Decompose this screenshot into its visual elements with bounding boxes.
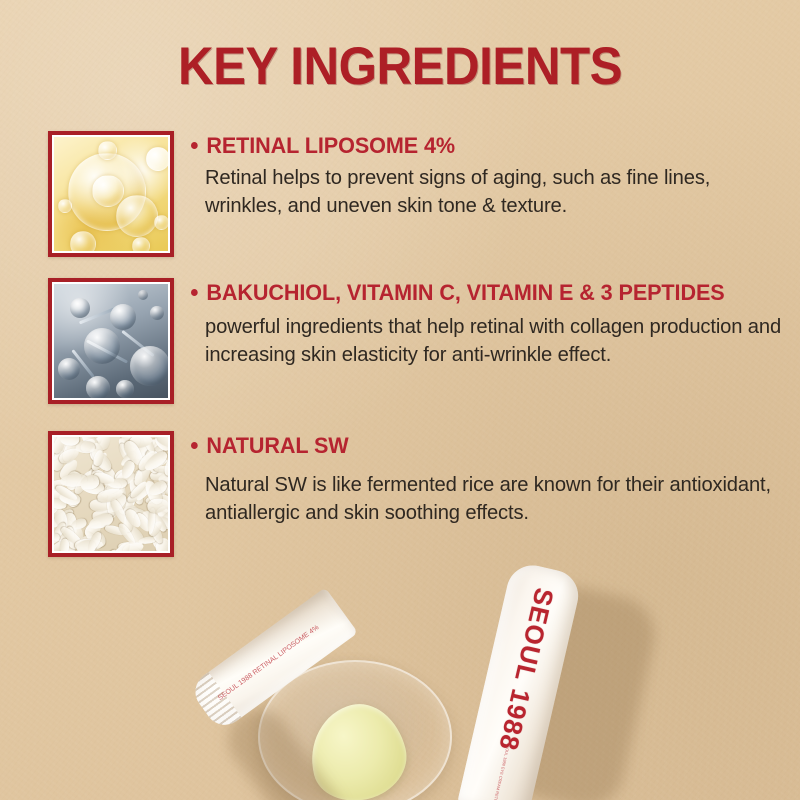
ingredient-heading: RETINAL LIPOSOME 4% — [191, 131, 767, 160]
ingredient-heading-label: BAKUCHIOL, VITAMIN C, VITAMIN E & 3 PEPT… — [206, 280, 724, 305]
ingredient-heading: NATURAL SW — [191, 431, 767, 460]
ingredient-description: Natural SW is like fermented rice are kn… — [205, 471, 782, 526]
bullet-dot-icon — [191, 442, 198, 449]
ingredient-description: powerful ingredients that help retinal w… — [205, 313, 782, 368]
ingredient-thumbnail-peptides — [48, 278, 174, 404]
ingredient-text-block: NATURAL SW Natural SW is like fermented … — [191, 431, 791, 526]
ingredient-heading-label: NATURAL SW — [206, 433, 348, 458]
bullet-dot-icon — [191, 142, 198, 149]
bullet-dot-icon — [191, 289, 198, 296]
ingredient-heading: BAKUCHIOL, VITAMIN C, VITAMIN E & 3 PEPT… — [191, 278, 767, 307]
ingredient-heading-label: RETINAL LIPOSOME 4% — [206, 133, 455, 158]
golden-oil-bubbles-image — [54, 137, 168, 251]
infographic-page: KEY INGREDIENTS RETINAL LIPOSOME 4% Reti… — [0, 0, 800, 800]
ingredient-text-block: BAKUCHIOL, VITAMIN C, VITAMIN E & 3 PEPT… — [191, 278, 791, 368]
ingredient-thumbnail-natural-sw — [48, 431, 174, 557]
ingredient-thumbnail-retinal — [48, 131, 174, 257]
ingredient-description: Retinal helps to prevent signs of aging,… — [205, 164, 782, 219]
ingredient-text-block: RETINAL LIPOSOME 4% Retinal helps to pre… — [191, 131, 791, 219]
molecule-spheres-image — [54, 284, 168, 398]
product-photo-scene: SEOUL 1988 SEOUL 1988 EYE CREAM RETINAL … — [0, 560, 800, 800]
white-rice-grains-image — [54, 437, 168, 551]
page-title: KEY INGREDIENTS — [28, 36, 772, 97]
